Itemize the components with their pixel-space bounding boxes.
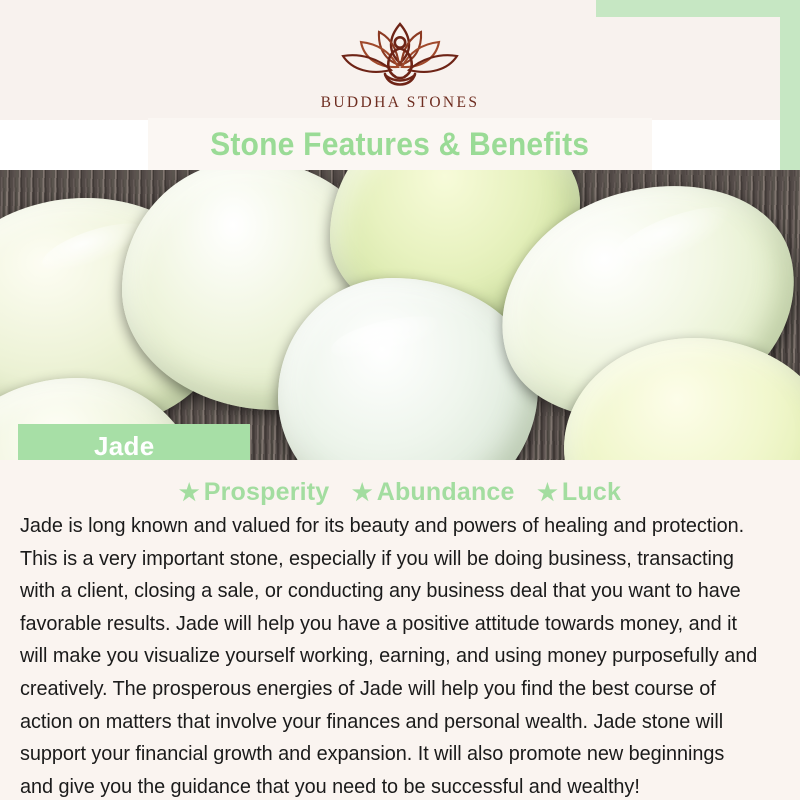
page-title: Stone Features & Benefits: [210, 126, 589, 163]
benefit-item: ★Prosperity: [179, 478, 330, 507]
header-band: BUDDHA STONES: [0, 0, 800, 120]
hero-stone-image: [0, 170, 800, 460]
decor-green-top-right: [596, 0, 800, 17]
benefit-item: ★Luck: [537, 478, 621, 507]
benefit-label: Abundance: [377, 478, 515, 506]
star-icon: ★: [537, 479, 558, 505]
benefits-row: ★Prosperity ★Abundance ★Luck: [0, 478, 800, 507]
benefit-label: Luck: [562, 478, 621, 506]
stone-name-label: Jade: [94, 431, 154, 462]
infographic-page: BUDDHA STONES Stone Features & Benefits …: [0, 0, 800, 800]
benefit-label: Prosperity: [204, 478, 330, 506]
title-banner: Stone Features & Benefits: [148, 118, 652, 170]
brand-logo: BUDDHA STONES: [0, 18, 800, 112]
star-icon: ★: [352, 479, 373, 505]
benefit-item: ★Abundance: [352, 478, 515, 507]
star-icon: ★: [179, 479, 200, 505]
stone-description: Jade is long known and valued for its be…: [20, 510, 759, 800]
lotus-meditation-icon: [325, 18, 475, 90]
brand-name: BUDDHA STONES: [0, 94, 800, 112]
content-panel: ★Prosperity ★Abundance ★Luck Jade is lon…: [0, 460, 800, 800]
